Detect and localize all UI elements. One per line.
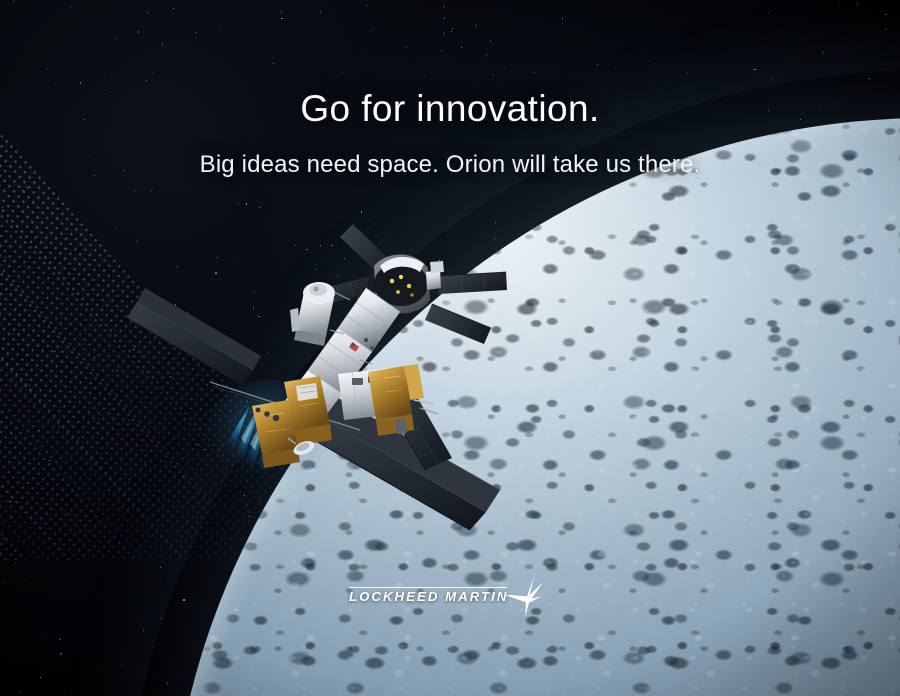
advertisement-canvas: Go for innovation. Big ideas need space.… bbox=[0, 0, 900, 696]
page-subtitle: Big ideas need space. Orion will take us… bbox=[0, 151, 900, 180]
brand-logo[interactable]: LOCKHEED MARTIN bbox=[349, 576, 545, 620]
logo-wordmark: LOCKHEED MARTIN bbox=[349, 590, 509, 603]
page-title: Go for innovation. bbox=[0, 90, 900, 127]
lockheed-martin-star-icon bbox=[501, 572, 549, 620]
